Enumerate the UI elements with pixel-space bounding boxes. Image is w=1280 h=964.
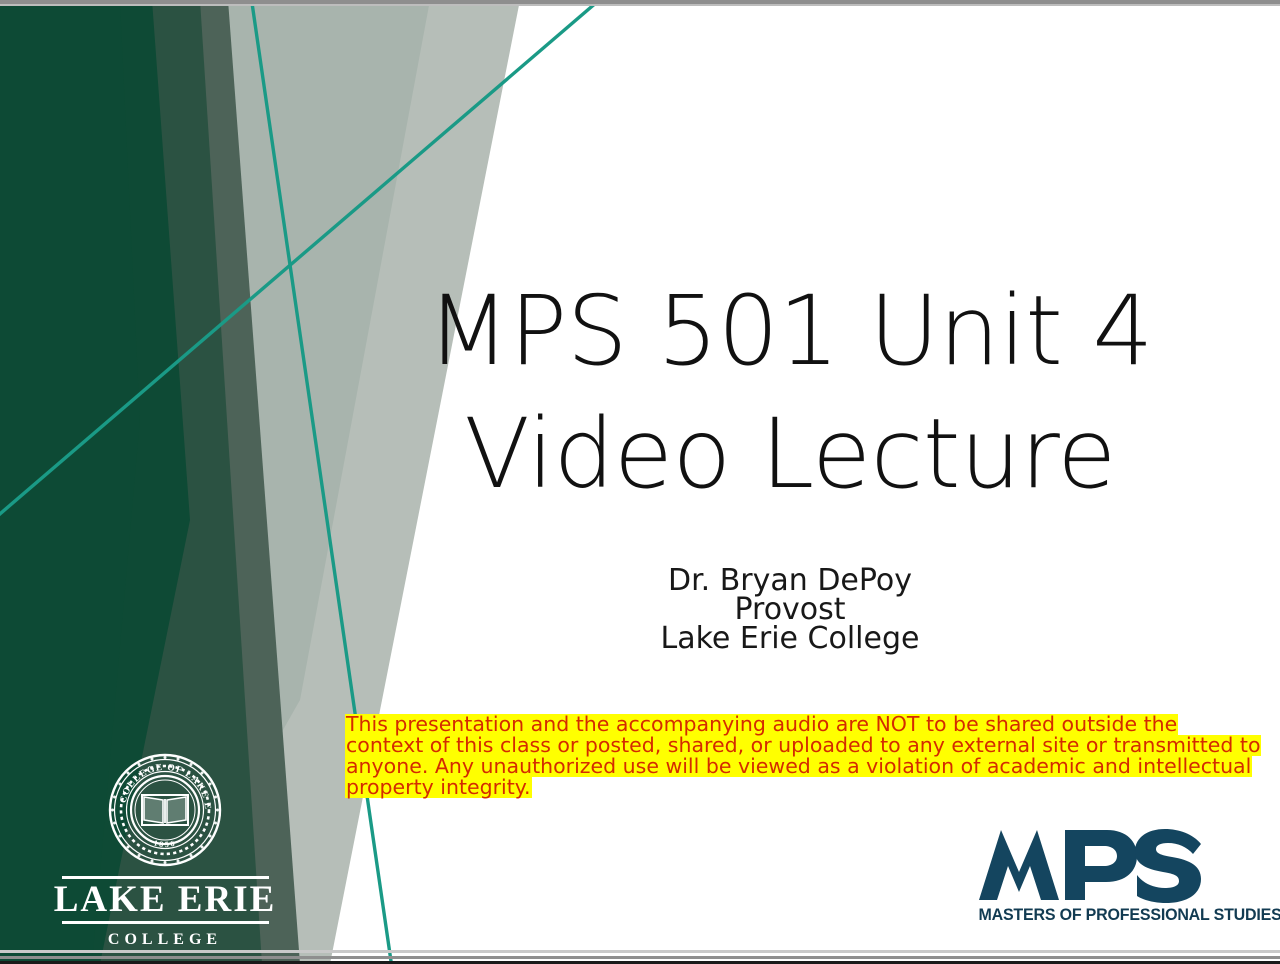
mps-monogram-icon xyxy=(975,826,1205,904)
presenter-name: Dr. Bryan DePoy xyxy=(430,566,1150,595)
mps-tagline: MASTERS OF PROFESSIONAL STUDIES xyxy=(978,906,1201,925)
lake-erie-college-wordmark: LAKE ERIE COLLEGE xyxy=(40,876,290,949)
wordmark-rule-bottom xyxy=(62,921,269,924)
seal-open-book-icon xyxy=(142,795,188,825)
lake-erie-college-subname: COLLEGE xyxy=(40,931,290,949)
disclaimer-line: context of this class or posted, shared,… xyxy=(345,735,1261,756)
presenter-role: Provost xyxy=(430,595,1150,624)
slide-subtitle: Dr. Bryan DePoy Provost Lake Erie Colleg… xyxy=(430,566,1150,653)
disclaimer-notice: This presentation and the accompanying a… xyxy=(345,714,1253,798)
slide-title-line-2: Video Lecture xyxy=(330,393,1250,516)
mps-logo: MASTERS OF PROFESSIONAL STUDIES xyxy=(975,826,1205,925)
disclaimer-line: This presentation and the accompanying a… xyxy=(345,714,1178,735)
presenter-institution: Lake Erie College xyxy=(430,624,1150,653)
svg-text:· 1856 ·: · 1856 · xyxy=(144,835,185,849)
title-slide: MPS 501 Unit 4 Video Lecture Dr. Bryan D… xyxy=(0,0,1280,964)
disclaimer-line: anyone. Any unauthorized use will be vie… xyxy=(345,756,1252,777)
slide-title: MPS 501 Unit 4 Video Lecture xyxy=(330,270,1250,516)
slide-title-line-1: MPS 501 Unit 4 xyxy=(330,270,1250,393)
lake-erie-college-logo: THE COLLEGE OF LAKE ERIE · 1856 · LAKE E… xyxy=(40,750,290,949)
disclaimer-line: property integrity. xyxy=(345,777,532,798)
lake-erie-college-seal-icon: THE COLLEGE OF LAKE ERIE · 1856 · xyxy=(104,750,226,870)
lake-erie-college-name: LAKE ERIE xyxy=(40,879,290,921)
